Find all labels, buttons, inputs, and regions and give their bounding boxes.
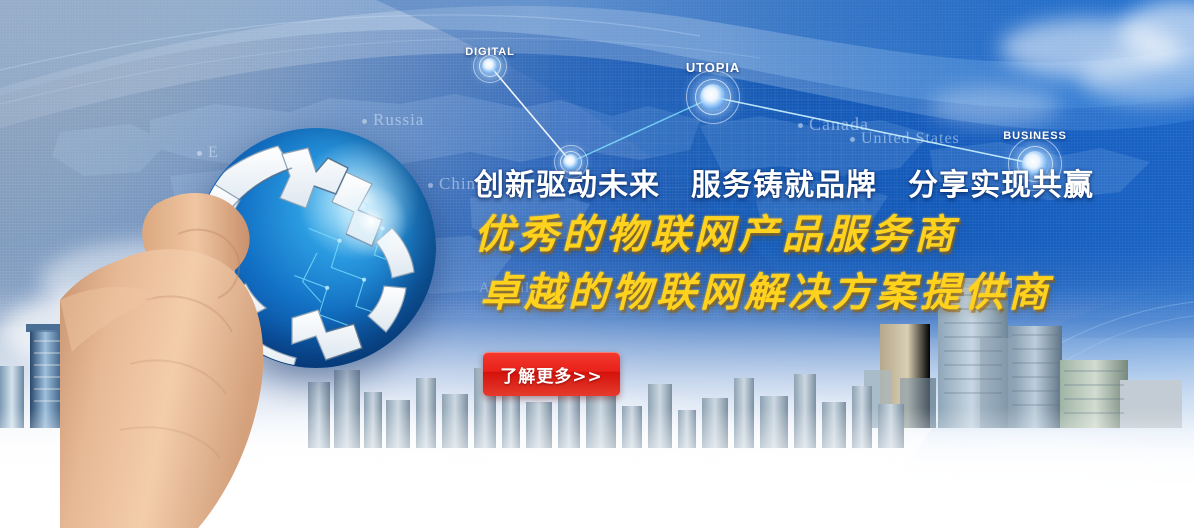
copy-block: 创新驱动未来 服务铸就品牌 分享实现共赢 优秀的物联网产品服务商 卓越的物联网解…: [474, 166, 1074, 322]
headline-text: 创新驱动未来 服务铸就品牌 分享实现共赢: [474, 166, 1074, 206]
network-node-label-utopia: UTOPIA: [686, 60, 740, 75]
node-glow-core-icon: [700, 84, 726, 110]
slogan-line-2: 卓越的物联网解决方案提供商: [480, 264, 1074, 322]
hero-banner: Russia E China Canada United States Aust…: [0, 0, 1194, 528]
network-node-label-digital: DIGITAL: [465, 46, 514, 58]
network-node-label-business: BUSINESS: [1003, 130, 1066, 142]
hand-holding-globe: [60, 150, 390, 528]
slogan-line-1: 优秀的物联网产品服务商: [474, 206, 1074, 264]
network-node-utopia[interactable]: [686, 70, 740, 124]
node-glow-core-icon: [482, 58, 498, 74]
learn-more-button[interactable]: 了解更多>>: [483, 352, 620, 396]
